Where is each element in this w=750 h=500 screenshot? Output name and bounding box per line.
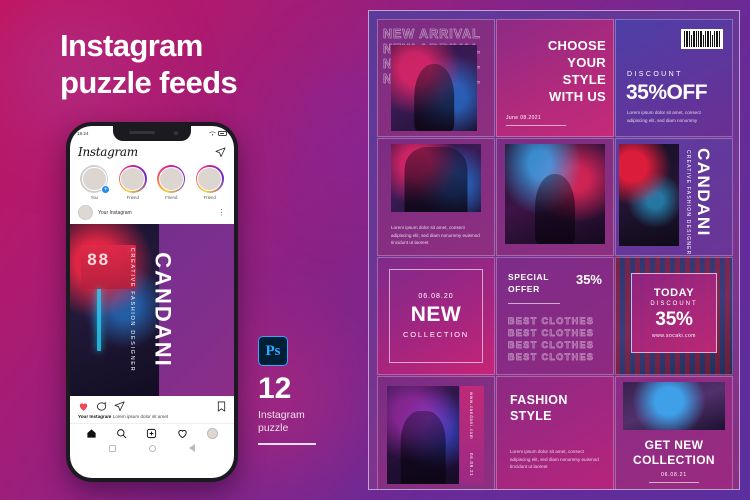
cell-frame <box>615 376 733 490</box>
page-title: Instagram puzzle feeds <box>60 28 360 101</box>
heart-icon[interactable] <box>78 401 89 412</box>
comment-icon[interactable] <box>96 401 107 412</box>
square-icon[interactable] <box>109 445 116 452</box>
search-icon[interactable] <box>116 428 127 439</box>
camera-icon <box>174 131 178 135</box>
phone-notch <box>113 126 191 141</box>
grid-cell-fashion-photo[interactable]: www.candani.com 06.08.21 <box>377 376 495 490</box>
post-photo <box>70 224 159 396</box>
grid-cell-today-discount[interactable]: TODAY DISCOUNT 35% www.socaki.com <box>615 257 733 375</box>
story-item-you[interactable]: + You <box>80 165 108 200</box>
story-ring: + <box>80 165 108 193</box>
caption-text: Lorem ipsum dolor sit amet <box>113 414 168 419</box>
speaker-icon <box>129 131 155 134</box>
grid-cell-special-offer[interactable]: SPECIAL OFFER 35% BEST CLOTHES BEST CLOT… <box>496 257 614 375</box>
cell-frame <box>496 19 614 137</box>
bookmark-icon[interactable] <box>217 401 226 412</box>
story-item-friend-3[interactable]: Friend <box>196 165 224 200</box>
post-brand-tagline: CREATIVE FASHION DESIGNER <box>129 248 135 372</box>
psd-info-block: Ps 12 Instagram puzzle <box>258 336 368 445</box>
puzzle-grid-panel: NEW ARRIVAL NEW ARRIVAL NEW ARRIVAL NEW … <box>368 10 740 490</box>
stories-tray[interactable]: + You Friend Friend Friend <box>70 161 234 201</box>
circle-icon[interactable] <box>149 445 156 452</box>
story-ring <box>119 165 147 193</box>
story-label: Friend <box>204 195 216 200</box>
story-label: You <box>91 195 98 200</box>
post-brand-pane: CANDANI CREATIVE FASHION DESIGNER <box>159 224 234 396</box>
neon-light-shape <box>97 289 101 351</box>
add-post-icon[interactable] <box>146 428 157 439</box>
home-icon[interactable] <box>86 428 97 439</box>
story-ring <box>157 165 185 193</box>
wifi-icon <box>209 131 216 136</box>
add-story-badge[interactable]: + <box>101 185 110 194</box>
avatar <box>120 167 145 192</box>
photoshop-icon: Ps <box>258 336 288 366</box>
share-icon[interactable] <box>114 401 125 412</box>
post-caption: Your Instagram Lorem ipsum dolor sit ame… <box>70 414 234 423</box>
count-label-line-2: puzzle <box>258 422 288 434</box>
avatar <box>197 167 222 192</box>
cell-frame <box>496 138 614 256</box>
divider <box>258 443 316 445</box>
puzzle-count: 12 <box>258 374 368 404</box>
cell-frame <box>377 138 495 256</box>
cell-frame <box>615 19 733 137</box>
avatar <box>159 167 184 192</box>
more-options-icon[interactable]: ⋮ <box>218 208 227 217</box>
battery-icon <box>218 131 227 136</box>
count-label-line-1: Instagram <box>258 409 305 421</box>
story-item-friend-1[interactable]: Friend <box>119 165 147 200</box>
poster-canvas: Instagram puzzle feeds 18.24 Instagr <box>0 0 750 500</box>
status-indicators <box>209 131 227 136</box>
story-label: Friend <box>165 195 177 200</box>
post-header: Your Instagram ⋮ <box>70 201 234 224</box>
story-item-friend-2[interactable]: Friend <box>157 165 185 200</box>
send-icon[interactable] <box>215 147 226 158</box>
grid-cell-choose-style[interactable]: CHOOSE YOUR STYLE WITH US June 08.2021 <box>496 19 614 137</box>
grid-cell-candani[interactable]: CANDANI CREATIVE FASHION DESIGNER <box>615 138 733 256</box>
grid-cell-concert-photo[interactable] <box>496 138 614 256</box>
cell-frame <box>377 257 495 375</box>
activity-icon[interactable] <box>177 428 188 439</box>
caption-username: Your Instagram <box>78 414 111 419</box>
instagram-logo: Instagram <box>78 145 138 159</box>
grid-cell-discount[interactable]: DISCOUNT 35%OFF Lorem ipsum dolor sit am… <box>615 19 733 137</box>
neon-sign-shape <box>81 245 136 290</box>
cell-frame <box>377 19 495 137</box>
puzzle-grid: NEW ARRIVAL NEW ARRIVAL NEW ARRIVAL NEW … <box>377 19 731 481</box>
instagram-header: Instagram <box>70 141 234 161</box>
grid-cell-fashion-style[interactable]: FASHION STYLE Lorem ipsum dolor sit amet… <box>496 376 614 490</box>
bottom-tab-bar[interactable] <box>70 423 234 441</box>
android-nav-bar[interactable] <box>70 441 234 456</box>
phone-screen: 18.24 Instagram <box>70 126 234 478</box>
status-time: 18.24 <box>77 131 89 136</box>
post-actions <box>70 396 234 414</box>
back-triangle-icon[interactable] <box>189 444 195 452</box>
post-image: CANDANI CREATIVE FASHION DESIGNER <box>70 224 234 396</box>
grid-cell-new-arrival[interactable]: NEW ARRIVAL NEW ARRIVAL NEW ARRIVAL NEW … <box>377 19 495 137</box>
cell-frame <box>615 138 733 256</box>
grid-cell-get-new-collection[interactable]: GET NEW COLLECTION 06.08.21 <box>615 376 733 490</box>
cell-frame <box>615 257 733 375</box>
puzzle-count-label: Instagram puzzle <box>258 409 368 435</box>
story-ring <box>196 165 224 193</box>
profile-icon[interactable] <box>207 428 218 439</box>
cell-frame <box>496 376 614 490</box>
cell-frame <box>496 257 614 375</box>
phone-mockup: 18.24 Instagram <box>66 122 238 482</box>
story-label: Friend <box>127 195 139 200</box>
headline-line-1: Instagram <box>60 28 203 63</box>
grid-cell-lorem-photo[interactable]: Lorem ipsum dolor sit amet, consect adip… <box>377 138 495 256</box>
post-brand-name: CANDANI <box>149 252 175 367</box>
headline-line-2: puzzle feeds <box>60 65 360 102</box>
cell-frame <box>377 376 495 490</box>
grid-cell-new-collection[interactable]: 06.08.20 NEW COLLECTION <box>377 257 495 375</box>
post-username[interactable]: Your Instagram <box>98 210 213 216</box>
avatar[interactable] <box>78 205 93 220</box>
